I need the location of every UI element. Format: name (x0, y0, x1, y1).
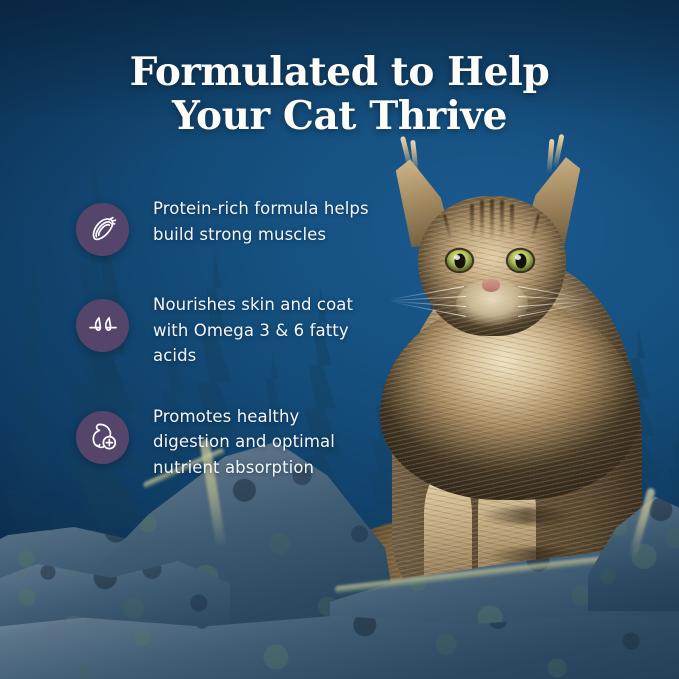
benefit-icon-badge (76, 411, 129, 464)
benefit-text: Protein-rich formula helps build strong … (153, 186, 376, 247)
benefit-icon-badge (76, 203, 129, 256)
benefit-text: Promotes healthy digestion and optimal n… (153, 397, 376, 481)
muscle-icon (87, 214, 119, 246)
headline-line-1: Formulated to Help (130, 49, 550, 95)
forehead-marking (480, 200, 484, 240)
page-title: Formulated to Help Your Cat Thrive (0, 50, 679, 138)
promo-banner: Formulated to Help Your Cat Thrive Prote… (0, 0, 679, 679)
benefit-icon-badge (76, 299, 129, 352)
benefit-item-skin-coat: Nourishes skin and coat with Omega 3 & 6… (76, 284, 376, 369)
forehead-marking (510, 204, 514, 238)
forehead-marking (470, 204, 474, 238)
headline-line-2: Your Cat Thrive (0, 94, 679, 138)
cat-eye-right (508, 250, 533, 271)
forehead-marking (490, 199, 494, 241)
cat-nose (482, 279, 500, 292)
benefit-item-digestion: Promotes healthy digestion and optimal n… (76, 397, 376, 481)
benefit-item-protein: Protein-rich formula helps build strong … (76, 186, 376, 256)
benefit-text: Nourishes skin and coat with Omega 3 & 6… (153, 284, 376, 369)
forehead-marking (500, 200, 504, 240)
eye-glint (454, 255, 460, 260)
benefits-list: Protein-rich formula helps build strong … (76, 186, 376, 480)
cat-eye-left (447, 250, 472, 271)
stomach-plus-icon (87, 421, 119, 453)
hair-follicle-icon (87, 310, 119, 342)
eye-glint (515, 255, 521, 260)
